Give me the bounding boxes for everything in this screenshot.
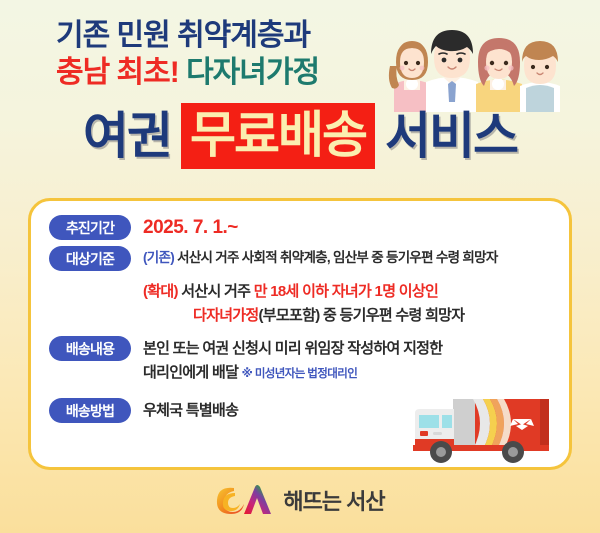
- logo-a-mark: [244, 485, 271, 514]
- row-eligibility: 대상기준 (기존) 서산시 거주 사회적 취약계층, 임산부 중 등기우편 수령…: [31, 246, 569, 328]
- family-mother: [476, 38, 522, 112]
- row-delivery-content: 배송내용 본인 또는 여권 신청시 미리 위임장 작성하여 지정한 대리인에게 …: [31, 336, 569, 386]
- eligibility-expanded-tag: (확대): [143, 283, 178, 300]
- delivery-method-value: 우체국 특별배송: [143, 399, 555, 423]
- row-period-body: 2025. 7. 1.~: [143, 215, 555, 240]
- headline-line-2-red: 충남 최초!: [56, 56, 179, 89]
- period-value: 2025. 7. 1.~: [143, 216, 555, 240]
- badge-delivery-content: 배송내용: [49, 336, 131, 361]
- headline-block: 기존 민원 취약계층과 충남 최초! 다자녀가정: [56, 18, 386, 91]
- info-card: 추진기간 2025. 7. 1.~ 대상기준 (기존) 서산시 거주 사회적 취…: [28, 198, 572, 470]
- eligibility-multichild-plain: (부모포함) 중 등기우편 수령 희망자: [259, 307, 465, 324]
- family-of-four-icon: [386, 22, 566, 112]
- eligibility-expanded-plain: 서산시 거주: [181, 283, 250, 300]
- badge-eligibility: 대상기준: [49, 246, 131, 271]
- eligibility-existing-text: 서산시 거주 사회적 취약계층, 임산부 중 등기우편 수령 희망자: [177, 250, 497, 265]
- eligibility-spacer: [143, 269, 555, 280]
- eligibility-expanded-red: 만 18세 이하 자녀가 1명 이상인: [254, 283, 438, 300]
- eligibility-existing-line: (기존) 서산시 거주 사회적 취약계층, 임산부 중 등기우편 수령 희망자: [143, 247, 555, 269]
- footer-logo-text: 해뜨는 서산: [283, 484, 384, 516]
- main-title-word-1: 여권: [83, 111, 171, 161]
- delivery-content-note: ※ 미성년자는 법정대리인: [242, 368, 358, 380]
- sunrise-seosan-logo-icon: [215, 483, 273, 517]
- row-eligibility-body: (기존) 서산시 거주 사회적 취약계층, 임산부 중 등기우편 수령 희망자 …: [143, 246, 555, 328]
- family-boy: [520, 41, 560, 112]
- footer-logo: 해뜨는 서산: [0, 483, 600, 517]
- eligibility-multichild-red: 다자녀가정: [193, 307, 259, 324]
- headline-line-2-teal: 다자녀가정: [186, 56, 319, 89]
- row-delivery-method: 배송방법 우체국 특별배송: [31, 398, 569, 423]
- poster-root: 기존 민원 취약계층과 충남 최초! 다자녀가정: [0, 0, 600, 533]
- delivery-content-line-2: 대리인에게 배달 ※ 미성년자는 법정대리인: [143, 361, 555, 386]
- family-girl: [389, 41, 430, 112]
- main-title-word-2: 서비스: [385, 111, 517, 161]
- headline-line-1: 기존 민원 취약계층과: [56, 18, 386, 55]
- logo-sun-swirl: [217, 488, 244, 514]
- row-period: 추진기간 2025. 7. 1.~: [31, 215, 569, 240]
- badge-delivery-method: 배송방법: [49, 398, 131, 423]
- main-title: 여권 무료배송 서비스: [0, 103, 600, 169]
- poster-header: 기존 민원 취약계층과 충남 최초! 다자녀가정: [0, 0, 600, 170]
- family-father: [426, 30, 478, 112]
- eligibility-expanded-line-2: 다자녀가정(부모포함) 중 등기우편 수령 희망자: [143, 304, 555, 328]
- eligibility-existing-tag: (기존): [143, 250, 174, 265]
- delivery-content-line-2-text: 대리인에게 배달: [143, 364, 238, 381]
- eligibility-expanded-line-1: (확대) 서산시 거주 만 18세 이하 자녀가 1명 이상인: [143, 280, 555, 304]
- badge-period: 추진기간: [49, 215, 131, 240]
- main-title-highlight: 무료배송: [181, 103, 375, 169]
- delivery-content-line-1: 본인 또는 여권 신청시 미리 위임장 작성하여 지정한: [143, 337, 555, 361]
- row-delivery-method-body: 우체국 특별배송: [143, 398, 555, 423]
- headline-line-2: 충남 최초! 다자녀가정: [56, 55, 386, 92]
- info-rows: 추진기간 2025. 7. 1.~ 대상기준 (기존) 서산시 거주 사회적 취…: [31, 201, 569, 423]
- row-delivery-content-body: 본인 또는 여권 신청시 미리 위임장 작성하여 지정한 대리인에게 배달 ※ …: [143, 336, 555, 386]
